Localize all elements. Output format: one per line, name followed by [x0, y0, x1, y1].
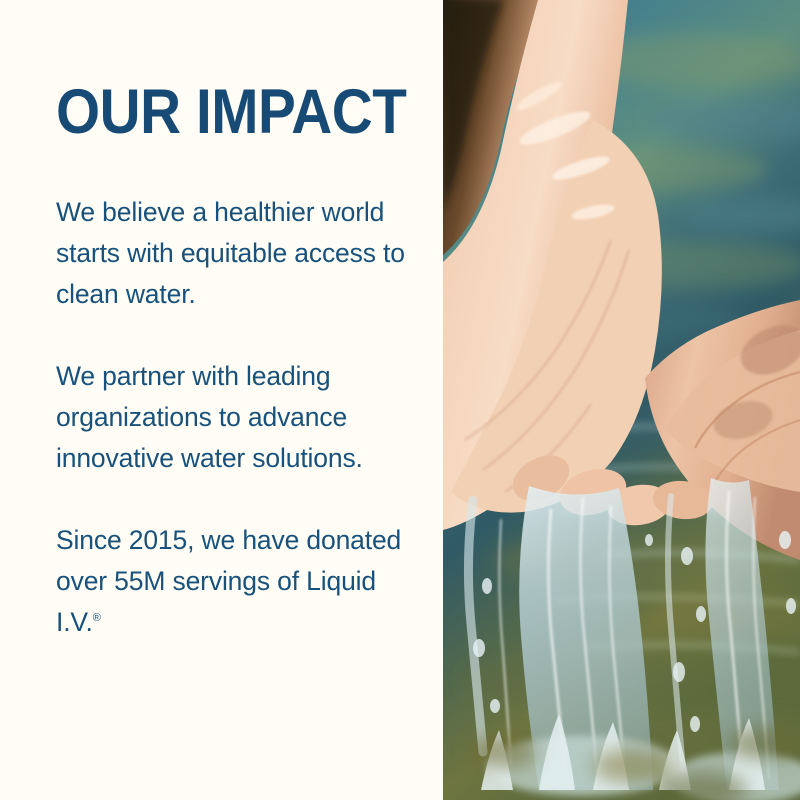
paragraph-donations-text: Since 2015, we have donated over 55M ser… [56, 525, 401, 637]
paragraph-partnerships-text: We partner with leading organizations to… [56, 361, 363, 473]
text-panel: OUR IMPACT We believe a healthier world … [0, 0, 443, 800]
hands-water-photo [443, 0, 800, 800]
paragraph-mission: We believe a healthier world starts with… [56, 192, 411, 315]
registered-trademark-icon: ® [93, 612, 101, 624]
hands-water-illustration [443, 0, 800, 800]
body-copy: We believe a healthier world starts with… [56, 192, 411, 643]
paragraph-partnerships: We partner with leading organizations to… [56, 356, 411, 479]
impact-poster: OUR IMPACT We believe a healthier world … [0, 0, 800, 800]
paragraph-donations: Since 2015, we have donated over 55M ser… [56, 520, 411, 643]
page-title: OUR IMPACT [56, 78, 406, 146]
